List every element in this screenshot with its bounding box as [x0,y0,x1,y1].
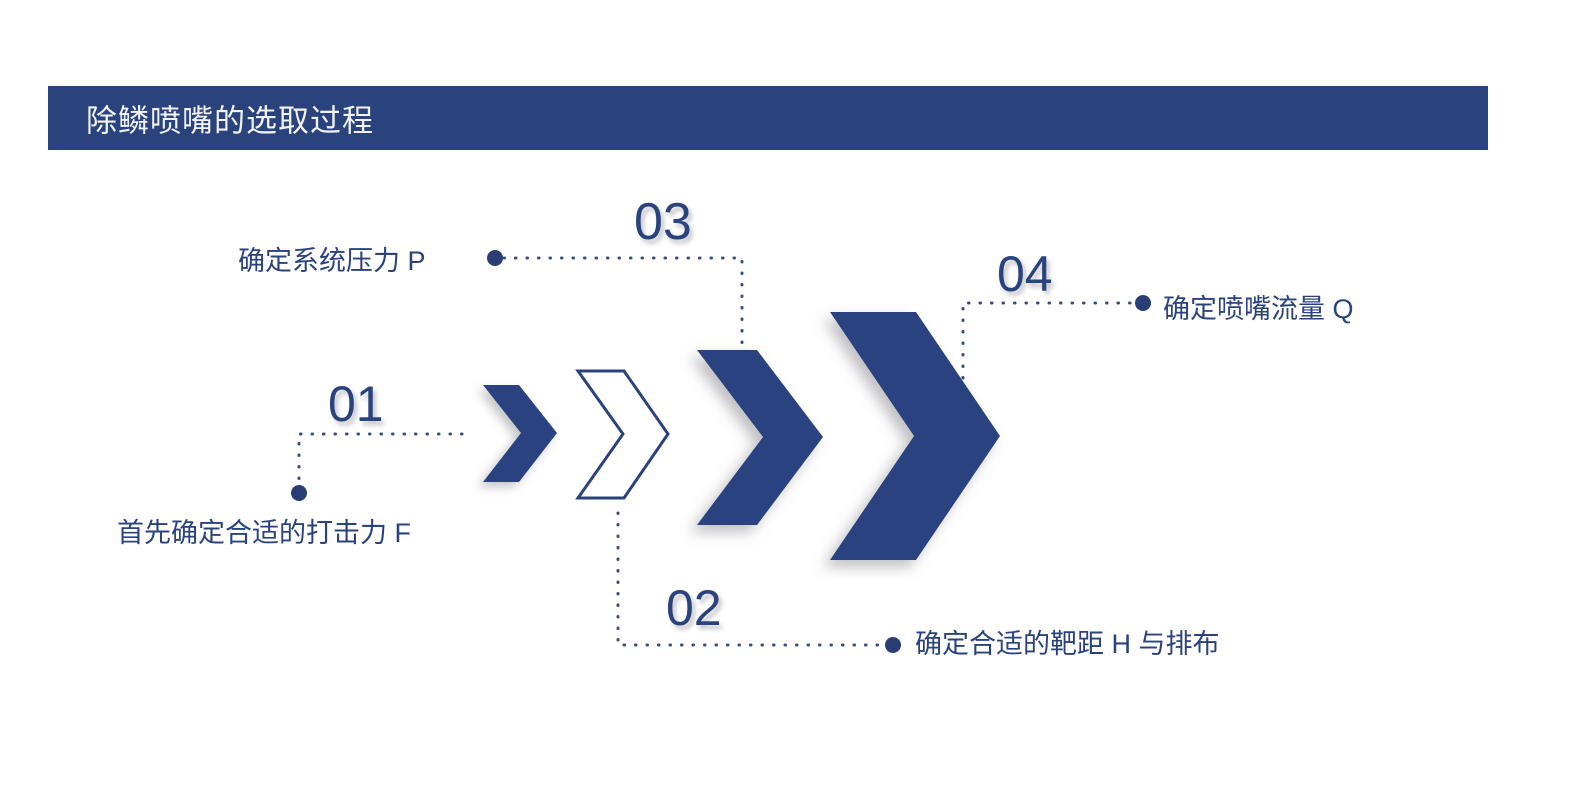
step-label-01: 首先确定合适的打击力 F [117,520,411,547]
connector-dot-step-3 [487,250,503,266]
connector-step-4 [963,295,1151,378]
step-number-01: 01 [328,379,384,429]
slide-canvas: 除鳞喷嘴的选取过程 [0,0,1575,807]
chevron-step-2 [578,371,668,498]
connector-step-2 [618,513,901,653]
chevron-step-3 [697,350,823,525]
connector-dot-step-1 [291,485,307,501]
chevron-step-1 [483,385,557,482]
chevron-step-4 [830,312,1000,560]
step-label-04: 确定喷嘴流量 Q [1163,296,1354,323]
connector-step-3 [487,250,742,345]
connector-dot-step-2 [885,637,901,653]
step-number-04: 04 [997,249,1053,299]
connector-dot-step-4 [1135,295,1151,311]
connector-step-1 [291,434,472,501]
page-title: 除鳞喷嘴的选取过程 [86,96,374,141]
step-number-02: 02 [666,583,722,633]
step-label-03: 确定系统压力 P [238,248,426,275]
step-number-03: 03 [634,196,692,248]
step-label-02: 确定合适的靶距 H 与排布 [915,631,1220,658]
title-bar: 除鳞喷嘴的选取过程 [48,86,1488,150]
